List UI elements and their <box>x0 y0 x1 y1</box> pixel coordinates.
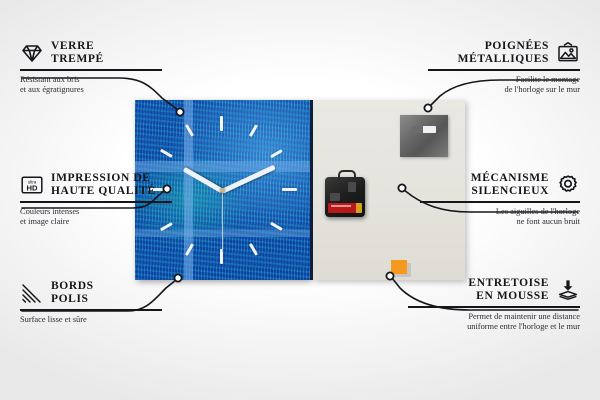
diamond-icon <box>20 41 44 65</box>
callout-rule <box>420 201 580 203</box>
svg-text:HD: HD <box>27 183 38 192</box>
movement-hook <box>338 170 356 181</box>
callout-title-line1: IMPRESSION DE <box>51 172 156 185</box>
foam-spacer-part <box>391 260 407 274</box>
callout-verre-trempe[interactable]: VERRE TREMPÉ Résistant aux bris et aux é… <box>20 40 170 95</box>
callout-rule <box>428 69 580 71</box>
clock-tick <box>220 116 223 131</box>
callout-title-line1: VERRE <box>51 40 104 53</box>
callout-desc-line2: ne font aucun bruit <box>420 217 580 227</box>
callout-desc-line1: Surface lisse et sûre <box>20 315 170 325</box>
callout-title-line1: BORDS <box>51 280 94 293</box>
callout-rule <box>20 69 162 71</box>
ultra-hd-icon: ultra HD <box>20 173 44 197</box>
clock-tick <box>282 188 297 191</box>
callout-entretoise-mousse[interactable]: ENTRETOISE EN MOUSSE Permet de maintenir… <box>408 277 580 332</box>
callout-desc-line2: et aux égratignures <box>20 85 170 95</box>
callout-desc-line1: Les aiguilles de l'horloge <box>420 207 580 217</box>
callout-title-line2: POLIS <box>51 293 94 306</box>
callout-title-line2: EN MOUSSE <box>468 290 549 303</box>
callout-impression-hd[interactable]: ultra HD IMPRESSION DE HAUTE QUALITÉ Cou… <box>20 172 180 227</box>
picture-hanger-icon <box>556 41 580 65</box>
infographic-canvas: VERRE TREMPÉ Résistant aux bris et aux é… <box>0 0 600 400</box>
clock-second-hand <box>222 190 223 252</box>
callout-desc-line1: Permet de maintenir une distance <box>408 312 580 322</box>
movement-detail <box>348 182 356 192</box>
metal-hanger-part <box>400 115 448 157</box>
hanger-slot <box>412 126 436 133</box>
callout-poignees-metalliques[interactable]: POIGNÉES MÉTALLIQUES Facilite le montage… <box>428 40 580 95</box>
foam-spacer-icon <box>556 278 580 302</box>
callout-title-line1: POIGNÉES <box>458 40 549 53</box>
polished-edges-icon <box>20 281 44 305</box>
clock-pivot <box>220 188 225 193</box>
callout-title-line2: HAUTE QUALITÉ <box>51 185 156 198</box>
callout-title-line1: MÉCANISME <box>471 172 549 185</box>
callout-title-line1: ENTRETOISE <box>468 277 549 290</box>
callout-mecanisme-silencieux[interactable]: MÉCANISME SILENCIEUX Les aiguilles de l'… <box>420 172 580 227</box>
callout-bords-polis[interactable]: BORDS POLIS Surface lisse et sûre <box>20 280 170 325</box>
callout-desc-line2: de l'horloge sur le mur <box>428 85 580 95</box>
callout-rule <box>20 201 172 203</box>
callout-rule <box>20 309 162 311</box>
callout-desc-line2: et image claire <box>20 217 180 227</box>
clock-movement-part <box>325 177 365 217</box>
callout-title-line2: SILENCIEUX <box>471 185 549 198</box>
callout-desc-line1: Facilite le montage <box>428 75 580 85</box>
movement-detail <box>330 193 340 201</box>
callout-desc-line1: Couleurs intenses <box>20 207 180 217</box>
callout-rule <box>408 306 580 308</box>
gear-icon <box>556 173 580 197</box>
callout-desc-line2: uniforme entre l'horloge et le mur <box>408 322 580 332</box>
battery-part <box>328 203 362 213</box>
callout-desc-line1: Résistant aux bris <box>20 75 170 85</box>
product-image <box>135 100 465 280</box>
callout-title-line2: TREMPÉ <box>51 53 104 66</box>
callout-title-line2: MÉTALLIQUES <box>458 53 549 66</box>
